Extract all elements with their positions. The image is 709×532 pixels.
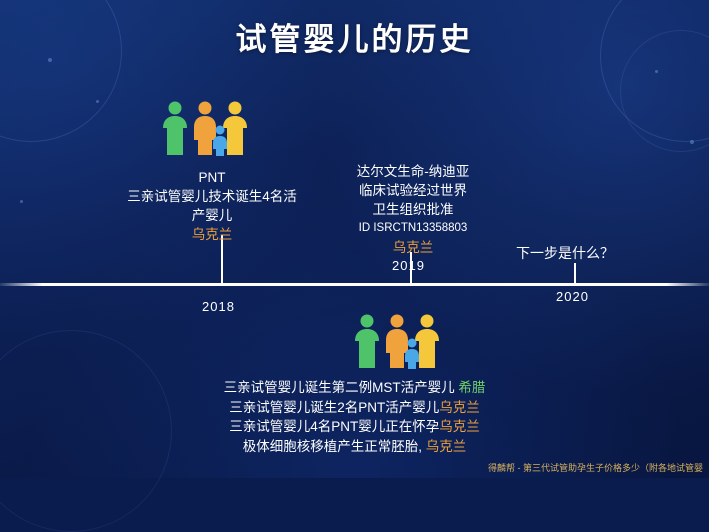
event-middle-country: 乌克兰	[318, 238, 508, 257]
event-middle-line-2: 卫生组织批准	[318, 200, 508, 219]
event-bottom-row-2-text: 三亲试管婴儿4名PNT婴儿正在怀孕	[229, 419, 439, 434]
event-bottom-row-3-text: 极体细胞核移植产生正常胚胎,	[243, 439, 426, 454]
event-left-country: 乌克兰	[112, 225, 312, 244]
event-middle-line-1: 临床试验经过世界	[318, 181, 508, 200]
watermark: 得麟帮 - 第三代试管助孕生子价格多少（附各地试管婴	[488, 461, 703, 474]
timeline-year-2019: 2019	[392, 258, 425, 273]
timeline-axis	[0, 283, 709, 286]
event-left-text: PNT 三亲试管婴儿技术诞生4名活 产婴儿 乌克兰	[112, 168, 312, 244]
event-right-question: 下一步是什么？	[516, 243, 614, 263]
event-left-line-1: 三亲试管婴儿技术诞生4名活	[112, 187, 312, 206]
event-bottom-row-2-highlight: 乌克兰	[439, 419, 480, 434]
event-bottom-row-0: 三亲试管婴儿诞生第二例MST活产婴儿 希腊	[0, 378, 709, 398]
timeline-year-2018: 2018	[202, 299, 235, 314]
page-title: 试管婴儿的历史	[0, 14, 709, 59]
event-bottom-row-0-text: 三亲试管婴儿诞生第二例MST活产婴儿	[224, 380, 459, 395]
event-left-line-2: 产婴儿	[112, 206, 312, 225]
event-left-line-0: PNT	[112, 168, 312, 187]
decor-dot-3	[655, 70, 658, 73]
event-bottom-text: 三亲试管婴儿诞生第二例MST活产婴儿 希腊 三亲试管婴儿诞生2名PNT活产婴儿乌…	[0, 378, 709, 456]
event-bottom-row-1: 三亲试管婴儿诞生2名PNT活产婴儿乌克兰	[0, 398, 709, 418]
event-bottom-row-1-text: 三亲试管婴儿诞生2名PNT活产婴儿	[229, 400, 439, 415]
event-bottom-row-1-highlight: 乌克兰	[439, 400, 480, 415]
event-bottom-row-3: 极体细胞核移植产生正常胚胎, 乌克兰	[0, 437, 709, 457]
timeline-tick-2020	[574, 263, 576, 283]
decor-dot-4	[690, 140, 694, 144]
timeline-year-2020: 2020	[556, 289, 589, 304]
decor-dot-2	[96, 100, 99, 103]
event-bottom-row-3-highlight: 乌克兰	[426, 439, 467, 454]
family-icon-left	[157, 100, 267, 160]
decor-dot-5	[20, 200, 23, 203]
event-middle-text: 达尔文生命-纳迪亚 临床试验经过世界 卫生组织批准 ID ISRCTN13358…	[318, 162, 508, 257]
slide-background: 试管婴儿的历史 2018 2019 2020 PNT 三亲试管婴儿技术诞生4名活…	[0, 0, 709, 478]
event-middle-line-0: 达尔文生命-纳迪亚	[318, 162, 508, 181]
event-middle-id: ID ISRCTN13358803	[318, 219, 508, 238]
event-bottom-row-2: 三亲试管婴儿4名PNT婴儿正在怀孕乌克兰	[0, 417, 709, 437]
event-bottom-row-0-highlight: 希腊	[458, 380, 485, 395]
family-icon-bottom	[349, 312, 459, 374]
